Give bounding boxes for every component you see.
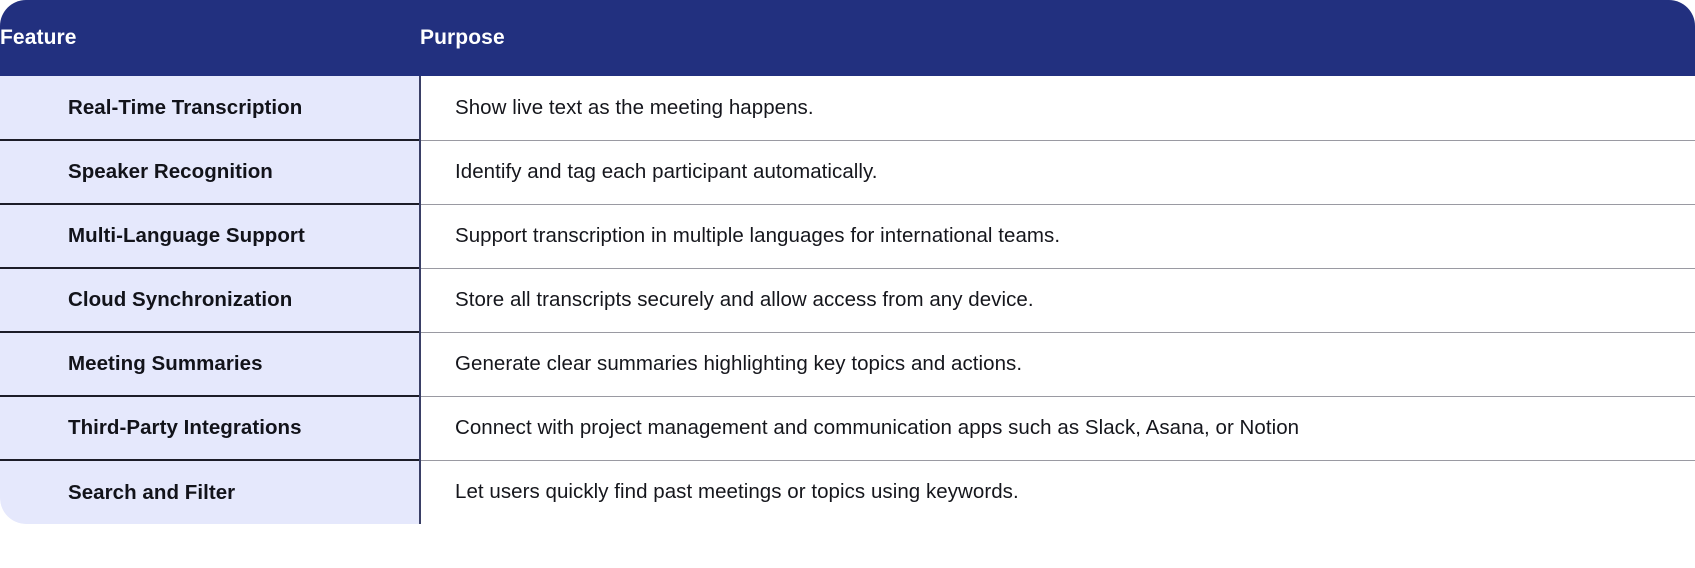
purpose-cell: Support transcription in multiple langua… [420,204,1695,268]
purpose-cell: Show live text as the meeting happens. [420,76,1695,140]
feature-cell: Cloud Synchronization [0,268,420,332]
table-row: Speaker Recognition Identify and tag eac… [0,140,1695,204]
table-row: Cloud Synchronization Store all transcri… [0,268,1695,332]
column-header-purpose: Purpose [420,0,1695,76]
feature-cell: Third-Party Integrations [0,396,420,460]
table-row: Multi-Language Support Support transcrip… [0,204,1695,268]
feature-cell: Real-Time Transcription [0,76,420,140]
column-header-feature: Feature [0,0,420,76]
table-header: Feature Purpose [0,0,1695,76]
feature-cell: Speaker Recognition [0,140,420,204]
purpose-cell: Generate clear summaries highlighting ke… [420,332,1695,396]
feature-purpose-table: Feature Purpose Real-Time Transcription … [0,0,1695,524]
table-row: Real-Time Transcription Show live text a… [0,76,1695,140]
feature-cell: Meeting Summaries [0,332,420,396]
table-row: Third-Party Integrations Connect with pr… [0,396,1695,460]
table-row: Search and Filter Let users quickly find… [0,460,1695,524]
purpose-cell: Store all transcripts securely and allow… [420,268,1695,332]
table-row: Meeting Summaries Generate clear summari… [0,332,1695,396]
purpose-cell: Identify and tag each participant automa… [420,140,1695,204]
purpose-cell: Let users quickly find past meetings or … [420,460,1695,524]
feature-table-container: Feature Purpose Real-Time Transcription … [0,0,1695,568]
header-row: Feature Purpose [0,0,1695,76]
table-body: Real-Time Transcription Show live text a… [0,76,1695,524]
feature-cell: Search and Filter [0,460,420,524]
purpose-cell: Connect with project management and comm… [420,396,1695,460]
feature-cell: Multi-Language Support [0,204,420,268]
